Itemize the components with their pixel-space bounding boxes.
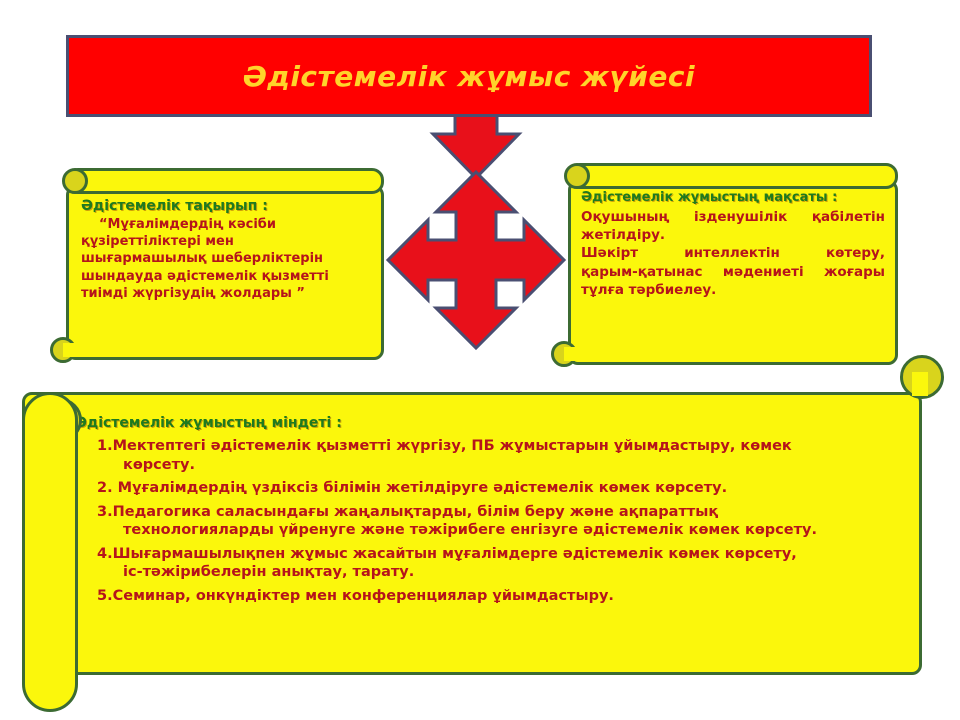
topic-box-heading: Әдістемелік тақырып :: [81, 198, 369, 214]
goal-box-line-3: Шәкірт интеллектін көтеру,: [581, 244, 885, 262]
list-item: 1.Мектептегі әдістемелік қызметті жүргіз…: [97, 437, 901, 474]
task-cont-text: іс-тәжірибелерін анықтау, тарату.: [97, 563, 901, 582]
tasks-box: Әдістемелік жұмыстың міндеті : 1.Мектепт…: [22, 392, 922, 675]
goal-box-line-5: тұлға тәрбиелеу.: [581, 281, 885, 299]
goal-scroll-curl-top-left: [564, 163, 590, 189]
goal-scroll-curl-notch: [564, 347, 578, 361]
task-cont-text: технологияларды үйренуге және тәжірибеге…: [97, 521, 901, 540]
slide-title-banner: Әдістемелік жұмыс жүйесі: [66, 35, 872, 117]
goal-box-line-1: Оқушының ізденушілік қабілетін: [581, 208, 885, 226]
four-way-arrow: [388, 172, 564, 348]
tasks-box-heading: Әдістемелік жұмыстың міндеті :: [75, 415, 901, 431]
list-item: 2. Мұғалімдердің үздіксіз білімін жетілд…: [97, 479, 901, 498]
list-item: 3.Педагогика саласындағы жаңалықтарды, б…: [97, 503, 901, 540]
tasks-scroll-curl-top-left-notch: [50, 415, 66, 439]
tasks-scroll-curl-top-right-notch: [912, 372, 928, 396]
list-item: 4.Шығармашылықпен жұмыс жасайтын мұғалім…: [97, 545, 901, 582]
topic-scroll-top-bar: [66, 168, 384, 194]
goal-box-line-2: жетілдіру.: [581, 226, 885, 244]
list-item: 5.Семинар, онкүндіктер мен конференцияла…: [97, 587, 901, 606]
page-title: Әдістемелік жұмыс жүйесі: [243, 60, 695, 93]
topic-box-line-1: “Мұғалімдердің кәсіби: [81, 216, 369, 233]
topic-scroll-curl-top-left: [62, 168, 88, 194]
tasks-scroll-left-roll: [22, 392, 78, 712]
tasks-list: 1.Мектептегі әдістемелік қызметті жүргіз…: [75, 437, 901, 605]
topic-box: Әдістемелік тақырып : “Мұғалімдердің кәс…: [66, 185, 384, 360]
topic-box-line-5: тиімді жүргізудің жолдары ”: [81, 285, 369, 302]
goal-box: Әдістемелік жұмыстың мақсаты : Оқушының …: [568, 180, 898, 365]
task-cont-text: көрсету.: [97, 456, 901, 475]
task-main-text: 4.Шығармашылықпен жұмыс жасайтын мұғалім…: [97, 546, 797, 562]
goal-scroll-top-bar: [568, 163, 898, 189]
goal-box-heading: Әдістемелік жұмыстың мақсаты :: [581, 191, 885, 206]
task-main-text: 3.Педагогика саласындағы жаңалықтарды, б…: [97, 504, 718, 520]
goal-box-line-4: қарым-қатынас мәдениеті жоғары: [581, 263, 885, 281]
task-main-text: 1.Мектептегі әдістемелік қызметті жүргіз…: [97, 438, 792, 454]
task-main-text: 2. Мұғалімдердің үздіксіз білімін жетілд…: [97, 480, 727, 496]
task-main-text: 5.Семинар, онкүндіктер мен конференцияла…: [97, 588, 614, 604]
topic-box-line-4: шындауда әдістемелік қызметті: [81, 268, 369, 285]
slide-canvas: Әдістемелік жұмыс жүйесі Әдістемелік тақ…: [0, 0, 960, 720]
topic-scroll-curl-notch: [63, 343, 77, 357]
topic-box-line-2: құзіреттіліктері мен: [81, 233, 369, 250]
topic-box-line-3: шығармашылық шеберліктерін: [81, 250, 369, 267]
